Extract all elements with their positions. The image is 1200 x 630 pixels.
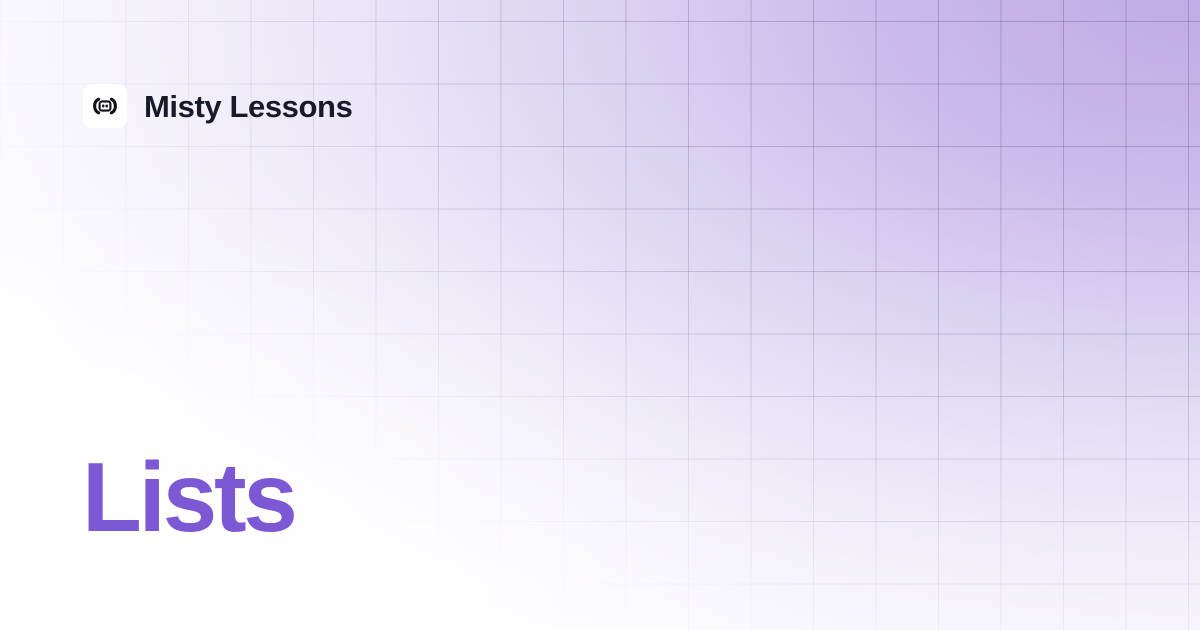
brand-logo-badge [83, 84, 127, 128]
page-title: Lists [82, 448, 295, 546]
brand-lockup: Misty Lessons [83, 84, 352, 128]
og-card: Misty Lessons Lists [0, 0, 1200, 630]
brand-name: Misty Lessons [144, 91, 352, 122]
brackets-dots-icon [90, 91, 120, 121]
